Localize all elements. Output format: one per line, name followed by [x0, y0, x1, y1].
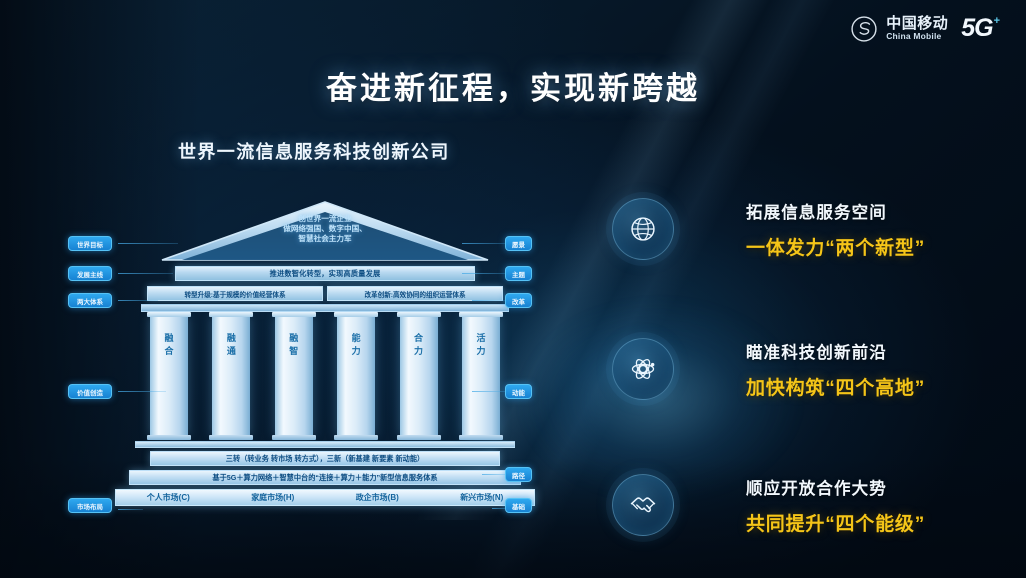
column-rong-tong: 融 通: [212, 316, 250, 436]
column-label-top: 融: [212, 332, 250, 345]
pediment-line-3: 智慧社会主力军: [160, 234, 490, 244]
column-label-top: 能: [337, 332, 375, 345]
left-badge-vision[interactable]: 世界目标: [68, 236, 112, 251]
leader-line-right-4: [472, 391, 506, 392]
left-badge-market[interactable]: 市场布局: [68, 498, 112, 513]
column-label-bottom: 合: [150, 345, 188, 358]
china-mobile-logo-icon: [851, 16, 877, 42]
step-bar-three-shifts: 三转（转业务 转市场 转方式），三新（新基建 新要素 新动能）: [150, 451, 500, 466]
right-badge-vision[interactable]: 愿景: [505, 236, 532, 251]
leader-line-right-5: [482, 474, 506, 475]
column-label: 融 合: [150, 332, 188, 358]
column-label-bottom: 智: [275, 345, 313, 358]
strategy-pillar-text: 拓展信息服务空间 一体发力“两个新型”: [746, 199, 925, 260]
market-label-consumer: 个人市场(C): [147, 492, 190, 503]
architrave-banner-label: 推进数智化转型，实现高质量发展: [270, 269, 381, 279]
column-label: 融 智: [275, 332, 313, 358]
architrave-row: 转型升级:基于规模的价值经营体系 改革创新:高效协同的组织运营体系: [147, 286, 503, 301]
strategy-pillar-title: 顺应开放合作大势: [746, 475, 925, 499]
market-base-row: 个人市场(C) 家庭市场(H) 政企市场(B) 新兴市场(N): [115, 489, 535, 506]
market-label-home: 家庭市场(H): [251, 492, 294, 503]
column-neng-li: 能 力: [337, 316, 375, 436]
brand-name-en: China Mobile: [886, 32, 948, 41]
column-label-bottom: 力: [400, 345, 438, 358]
strategy-pillar-expand-service-space[interactable]: 拓展信息服务空间 一体发力“两个新型”: [612, 198, 1026, 260]
column-label-top: 合: [400, 332, 438, 345]
page-title: 奋进新征程，实现新跨越: [0, 63, 1026, 108]
step-bar-label: 三转（转业务 转市场 转方式），三新（新基建 新要素 新动能）: [226, 454, 424, 464]
globe-icon-glyph: [629, 215, 657, 243]
strategy-pillar-title: 瞄准科技创新前沿: [746, 339, 925, 363]
column-huo-li: 活 力: [462, 316, 500, 436]
left-badge-mainline[interactable]: 发展主线: [68, 266, 112, 281]
atom-icon-glyph: [629, 355, 657, 383]
campaign-plus-glyph: +: [994, 15, 1000, 27]
leader-line-left-5: [118, 509, 143, 510]
strategy-pillar-text: 顺应开放合作大势 共同提升“四个能级”: [746, 475, 925, 536]
architrave-cell-label: 转型升级:基于规模的价值经营体系: [184, 289, 285, 299]
right-badge-theme[interactable]: 主题: [505, 266, 532, 281]
stylobate-band: [135, 441, 515, 448]
strategy-pillar-highlight: 一体发力“两个新型”: [746, 233, 925, 260]
architrave-cell-label: 改革创新:高效协同的组织运营体系: [364, 289, 465, 299]
pediment-text: 创世界一流企业 做网络强国、数字中国、 智慧社会主力军: [160, 214, 490, 244]
column-label: 活 力: [462, 332, 500, 358]
column-label: 能 力: [337, 332, 375, 358]
leader-line-right-1: [462, 243, 506, 244]
column-rong-he: 融 合: [150, 316, 188, 436]
temple-diagram: 创世界一流企业 做网络强国、数字中国、 智慧社会主力军 推进数智化转型，实现高质…: [120, 200, 540, 545]
column-label-top: 活: [462, 332, 500, 345]
pediment-line-1: 创世界一流企业: [160, 214, 490, 224]
leader-line-left-1: [118, 243, 178, 244]
left-badge-systems[interactable]: 两大体系: [68, 293, 112, 308]
handshake-icon: [612, 474, 674, 536]
column-rong-zhi: 融 智: [275, 316, 313, 436]
column-label-bottom: 通: [212, 345, 250, 358]
step-bar-service-system: 基于5G＋算力网络＋智慧中台的“连接＋算力＋能力”新型信息服务体系: [129, 470, 521, 485]
campaign-badge-5g: 5G +: [961, 14, 1000, 43]
leader-line-right-3: [472, 300, 506, 301]
column-label-top: 融: [150, 332, 188, 345]
page-subtitle: 世界一流信息服务科技创新公司: [178, 138, 450, 164]
architrave-cell-reform: 改革创新:高效协同的组织运营体系: [327, 286, 503, 301]
column-label-bottom: 力: [337, 345, 375, 358]
strategy-pillar-list: 拓展信息服务空间 一体发力“两个新型” 瞄准科技创新前沿 加快构筑“四个高地”: [612, 190, 1026, 570]
brand-name-block: 中国移动 China Mobile: [886, 16, 948, 41]
column-label-bottom: 力: [462, 345, 500, 358]
leader-line-left-3: [118, 300, 158, 301]
leader-line-left-4: [118, 391, 166, 392]
strategy-pillar-open-cooperation[interactable]: 顺应开放合作大势 共同提升“四个能级”: [612, 474, 1026, 536]
strategy-pillar-highlight: 共同提升“四个能级”: [746, 509, 925, 536]
column-label-top: 融: [275, 332, 313, 345]
right-badge-momentum[interactable]: 动能: [505, 384, 532, 399]
step-bar-label: 基于5G＋算力网络＋智慧中台的“连接＋算力＋能力”新型信息服务体系: [212, 473, 437, 483]
left-badge-value[interactable]: 价值创造: [68, 384, 112, 399]
right-badge-foundation[interactable]: 基础: [505, 498, 532, 513]
right-badge-path[interactable]: 路径: [505, 467, 532, 482]
column-label: 合 力: [400, 332, 438, 358]
campaign-label: 5G: [961, 14, 992, 43]
column-label: 融 通: [212, 332, 250, 358]
market-label-emerging: 新兴市场(N): [460, 492, 503, 503]
architrave-banner: 推进数智化转型，实现高质量发展: [175, 266, 475, 281]
strategy-pillar-text: 瞄准科技创新前沿 加快构筑“四个高地”: [746, 339, 925, 400]
strategy-pillar-highlight: 加快构筑“四个高地”: [746, 373, 925, 400]
market-label-business: 政企市场(B): [356, 492, 399, 503]
slide-canvas: 中国移动 China Mobile 5G + 奋进新征程，实现新跨越 世界一流信…: [0, 0, 1026, 578]
pediment: 创世界一流企业 做网络强国、数字中国、 智慧社会主力军: [160, 200, 490, 266]
brand-lockup: 中国移动 China Mobile 5G +: [851, 14, 1000, 43]
column-he-li: 合 力: [400, 316, 438, 436]
strategy-pillar-tech-innovation[interactable]: 瞄准科技创新前沿 加快构筑“四个高地”: [612, 338, 1026, 400]
pediment-line-2: 做网络强国、数字中国、: [160, 224, 490, 234]
colonnade: 融 合 融 通 融 智 能 力: [150, 316, 500, 436]
globe-icon: [612, 198, 674, 260]
architrave-cell-transformation: 转型升级:基于规模的价值经营体系: [147, 286, 323, 301]
right-badge-reform[interactable]: 改革: [505, 293, 532, 308]
leader-line-left-2: [118, 273, 173, 274]
leader-line-right-2: [462, 273, 506, 274]
atom-icon: [612, 338, 674, 400]
handshake-icon-glyph: [628, 490, 658, 520]
entablature-band: [141, 304, 509, 312]
brand-name-cn: 中国移动: [886, 16, 948, 32]
strategy-pillar-title: 拓展信息服务空间: [746, 199, 925, 223]
